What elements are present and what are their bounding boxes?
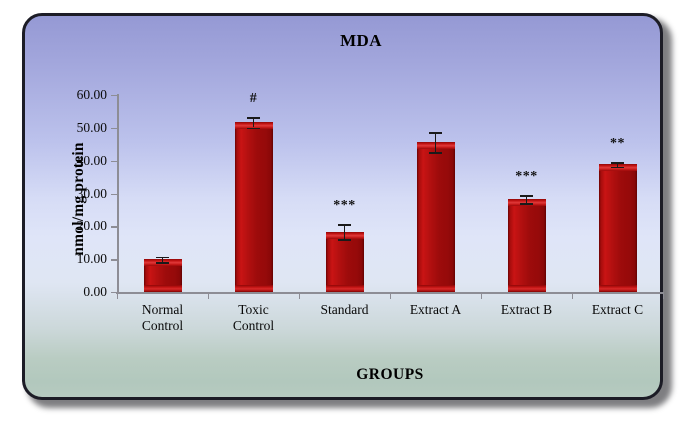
y-axis-tick-label: 10.00 <box>47 251 107 267</box>
bar-base-highlight <box>599 285 637 292</box>
y-axis-tick-labels: 0.0010.0020.0030.0040.0050.0060.00 <box>45 0 107 421</box>
x-axis-tick-mark <box>481 292 482 299</box>
error-bar-line <box>344 224 346 238</box>
error-bar-cap-lower <box>156 262 169 264</box>
x-axis-category-label: Extract B <box>475 302 578 318</box>
y-axis-line <box>117 94 119 293</box>
y-axis-tick-mark <box>111 161 117 162</box>
error-bar-cap-lower <box>247 128 260 130</box>
bar <box>508 199 546 292</box>
y-axis-tick-label: 30.00 <box>47 186 107 202</box>
bar <box>599 164 637 292</box>
x-axis-tick-mark <box>208 292 209 299</box>
error-bar-cap-lower <box>611 167 624 169</box>
y-axis-tick-label: 0.00 <box>47 284 107 300</box>
bar-base-highlight <box>508 285 546 292</box>
x-axis-category-label: Toxic Control <box>202 302 305 334</box>
bar <box>326 232 364 292</box>
y-axis-tick-label: 40.00 <box>47 153 107 169</box>
bar <box>144 259 182 292</box>
x-axis-category-label: Extract A <box>384 302 487 318</box>
error-bar-cap-lower <box>338 239 351 241</box>
y-axis-tick-mark <box>111 128 117 129</box>
x-axis-tick-mark <box>390 292 391 299</box>
error-bar-cap-upper <box>611 162 624 164</box>
y-axis-tick-mark <box>111 259 117 260</box>
significance-label: ** <box>610 136 625 152</box>
x-axis-category-label: Normal Control <box>111 302 214 334</box>
y-axis-tick-label: 20.00 <box>47 218 107 234</box>
y-axis-tick-label: 50.00 <box>47 120 107 136</box>
x-axis-title: GROUPS <box>117 366 663 384</box>
bar-base-highlight <box>326 285 364 292</box>
error-bar-cap-lower <box>429 152 442 154</box>
y-axis-tick-mark <box>111 194 117 195</box>
error-bar-cap-lower <box>520 203 533 205</box>
error-bar-cap-upper <box>247 117 260 119</box>
error-bar-cap-upper <box>429 132 442 134</box>
error-bar-line <box>435 132 437 152</box>
x-axis-tick-mark <box>299 292 300 299</box>
significance-label: # <box>250 91 258 107</box>
x-axis-category-label: Extract C <box>566 302 669 318</box>
significance-label: *** <box>333 198 356 214</box>
y-axis-tick-mark <box>111 95 117 96</box>
significance-label: *** <box>515 169 538 185</box>
x-axis-tick-mark <box>572 292 573 299</box>
x-axis-tick-mark <box>663 292 664 299</box>
y-axis-tick-mark <box>111 226 117 227</box>
x-axis-category-label: Standard <box>293 302 396 318</box>
x-axis-tick-mark <box>117 292 118 299</box>
bar <box>235 122 273 292</box>
y-axis-tick-label: 60.00 <box>47 87 107 103</box>
chart-figure: MDA nmol/mg protein 0.0010.0020.0030.004… <box>0 0 686 421</box>
bar-base-highlight <box>235 285 273 292</box>
bar <box>417 142 455 292</box>
bar-base-highlight <box>417 285 455 292</box>
error-bar-cap-upper <box>520 195 533 197</box>
error-bar-cap-upper <box>156 257 169 259</box>
error-bar-cap-upper <box>338 224 351 226</box>
bar-base-highlight <box>144 285 182 292</box>
